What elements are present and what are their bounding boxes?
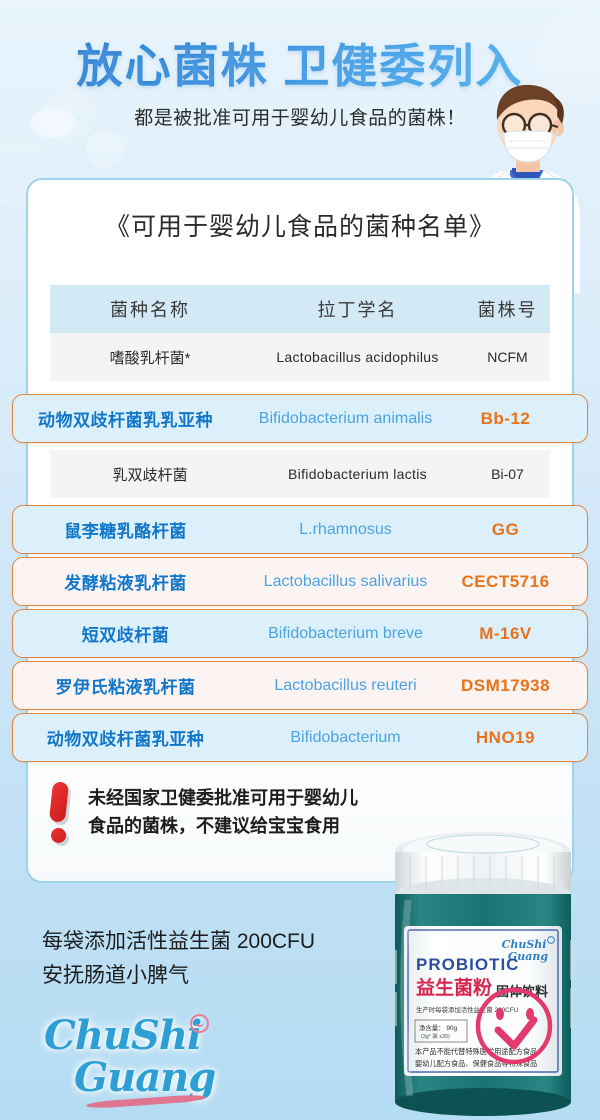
cell-strain: DSM17938 [453, 676, 558, 696]
product-jar: ChuShi Guang PROBIOTIC 益生菌粉 固体饮料 生产时每袋添加… [374, 830, 592, 1120]
cell-name: 乳双歧杆菌 [50, 464, 250, 485]
cell-name: 短双歧杆菌 [13, 621, 238, 646]
cell-name: 动物双歧杆菌乳亚种 [13, 725, 238, 750]
cell-latin: L.rhamnosus [238, 521, 453, 539]
cell-latin: Bifidobacterium breve [238, 625, 453, 643]
column-header-name: 菌种名称 [50, 296, 250, 322]
jar-net-weight-sub: (3g* 装 x30) [421, 1032, 450, 1040]
cell-strain: GG [453, 520, 558, 540]
list-title: 《可用于婴幼儿食品的菌种名单》 [0, 207, 600, 243]
cell-strain: HNO19 [453, 728, 558, 748]
column-header-latin: 拉丁学名 [250, 296, 465, 322]
cell-strain: CECT5716 [453, 572, 558, 592]
cell-name: 罗伊氏粘液乳杆菌 [13, 673, 238, 698]
cell-strain: M-16V [453, 624, 558, 644]
smile-icon [190, 1014, 209, 1033]
jar-brand-en: PROBIOTIC [416, 955, 519, 974]
jar-net-weight: 净含量： 90g [419, 1023, 457, 1032]
warning-text: 未经国家卫健委批准可用于婴幼儿 食品的菌株，不建议给宝宝食用 [88, 782, 358, 844]
table-row: 乳双歧杆菌 Bifidobacterium lactis Bi-07 [50, 450, 550, 498]
cell-strain: Bi-07 [465, 466, 550, 482]
table-header-row: 菌种名称 拉丁学名 菌株号 [50, 285, 550, 333]
cell-strain: Bb-12 [453, 409, 558, 429]
table-row-highlighted: 短双歧杆菌 Bifidobacterium breve M-16V [12, 609, 588, 658]
cell-name: 嗜酸乳杆菌* [50, 347, 250, 368]
column-header-strain: 菌株号 [465, 296, 550, 322]
background-bubble [86, 130, 124, 168]
table-row: 嗜酸乳杆菌* Lactobacillus acidophilus NCFM [50, 333, 550, 381]
warning-line-1: 未经国家卫健委批准可用于婴幼儿 [88, 785, 358, 813]
cell-latin: Lactobacillus reuteri [238, 677, 453, 695]
footer-copy-line-2: 安抚肠道小脾气 [42, 959, 315, 993]
table-row-highlighted: 罗伊氏粘液乳杆菌 Lactobacillus reuteri DSM17938 [12, 661, 588, 710]
cell-name: 发酵粘液乳杆菌 [13, 569, 238, 594]
footer-copy-line-1: 每袋添加活性益生菌 200CFU [42, 925, 315, 959]
brand-logo-line-2: Guang [74, 1054, 215, 1101]
brand-logo-line-1: ChuShi [44, 1012, 201, 1059]
table-row-highlighted: 动物双歧杆菌乳乳亚种 Bifidobacterium animalis Bb-1… [12, 394, 588, 443]
table-row-highlighted: 鼠李糖乳酪杆菌 L.rhamnosus GG [12, 505, 588, 554]
jar-name-cn: 益生菌粉 [416, 976, 492, 999]
jar-disclaimer-1: 本产品不能代替特殊医学用途配方食品、 [415, 1047, 544, 1056]
cell-name: 鼠李糖乳酪杆菌 [13, 517, 238, 542]
table-row-highlighted: 发酵粘液乳杆菌 Lactobacillus salivarius CECT571… [12, 557, 588, 606]
table-row-highlighted: 动物双歧杆菌乳亚种 Bifidobacterium HNO19 [12, 713, 588, 762]
exclamation-icon [48, 782, 74, 844]
warning-line-2: 食品的菌株，不建议给宝宝食用 [88, 813, 358, 841]
cell-strain: NCFM [465, 349, 550, 365]
cell-name: 动物双歧杆菌乳乳亚种 [13, 406, 238, 431]
footer-copy: 每袋添加活性益生菌 200CFU 安抚肠道小脾气 [42, 925, 315, 993]
brand-logo: ChuShi Guang [38, 1012, 238, 1108]
cell-latin: Bifidobacterium lactis [250, 466, 465, 482]
cell-latin: Bifidobacterium animalis [238, 410, 453, 428]
cell-latin: Lactobacillus acidophilus [250, 349, 465, 365]
cell-latin: Lactobacillus salivarius [238, 573, 453, 591]
cell-latin: Bifidobacterium [238, 729, 453, 747]
